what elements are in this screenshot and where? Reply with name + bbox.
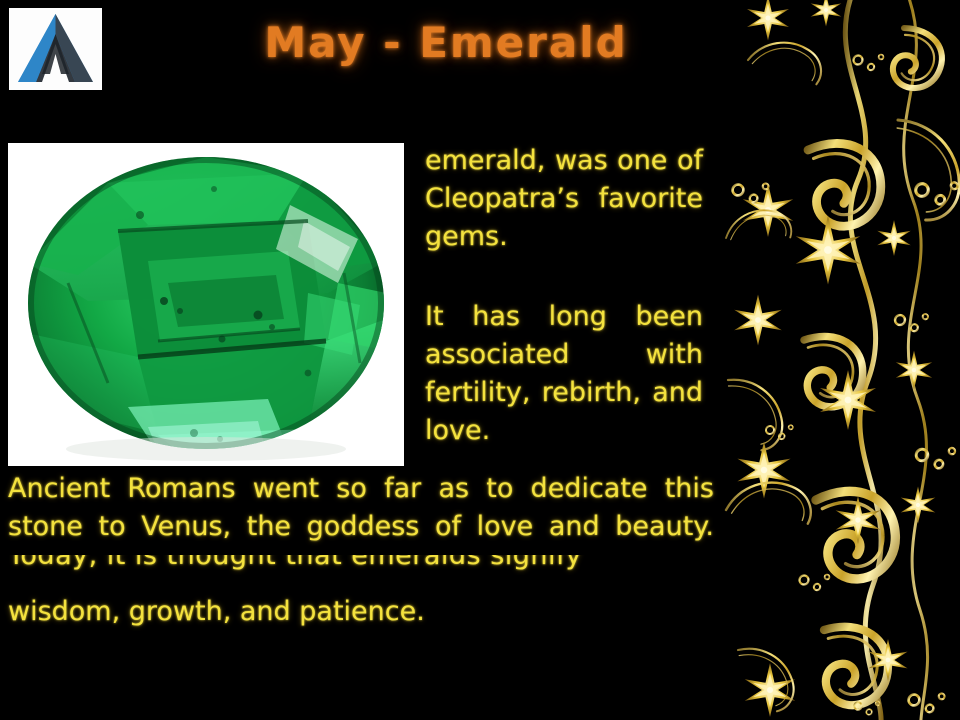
paragraph-cleopatra: emerald, was one of Cleopatra’s favorite… — [425, 142, 703, 256]
company-logo — [9, 8, 102, 90]
slide-canvas: May - Emerald — [0, 0, 960, 720]
paragraph-today-line2: wisdom, growth, and patience. — [8, 593, 714, 631]
paragraph-fertility: It has long been associated with fertili… — [425, 298, 703, 450]
paragraph-ancient-romans: Ancient Romans went so far as to dedicat… — [8, 470, 714, 546]
paragraph-today-line1-clipped: Today, it is thought that emeralds signi… — [8, 555, 714, 593]
paragraph-today-line1-text: Today, it is thought that emeralds signi… — [8, 555, 714, 575]
page-title: May - Emerald — [176, 18, 716, 67]
gold-filigree-ornament — [708, 0, 960, 720]
emerald-gem-image — [8, 143, 404, 466]
paragraph-today-group: Today, it is thought that emeralds signi… — [8, 555, 714, 631]
